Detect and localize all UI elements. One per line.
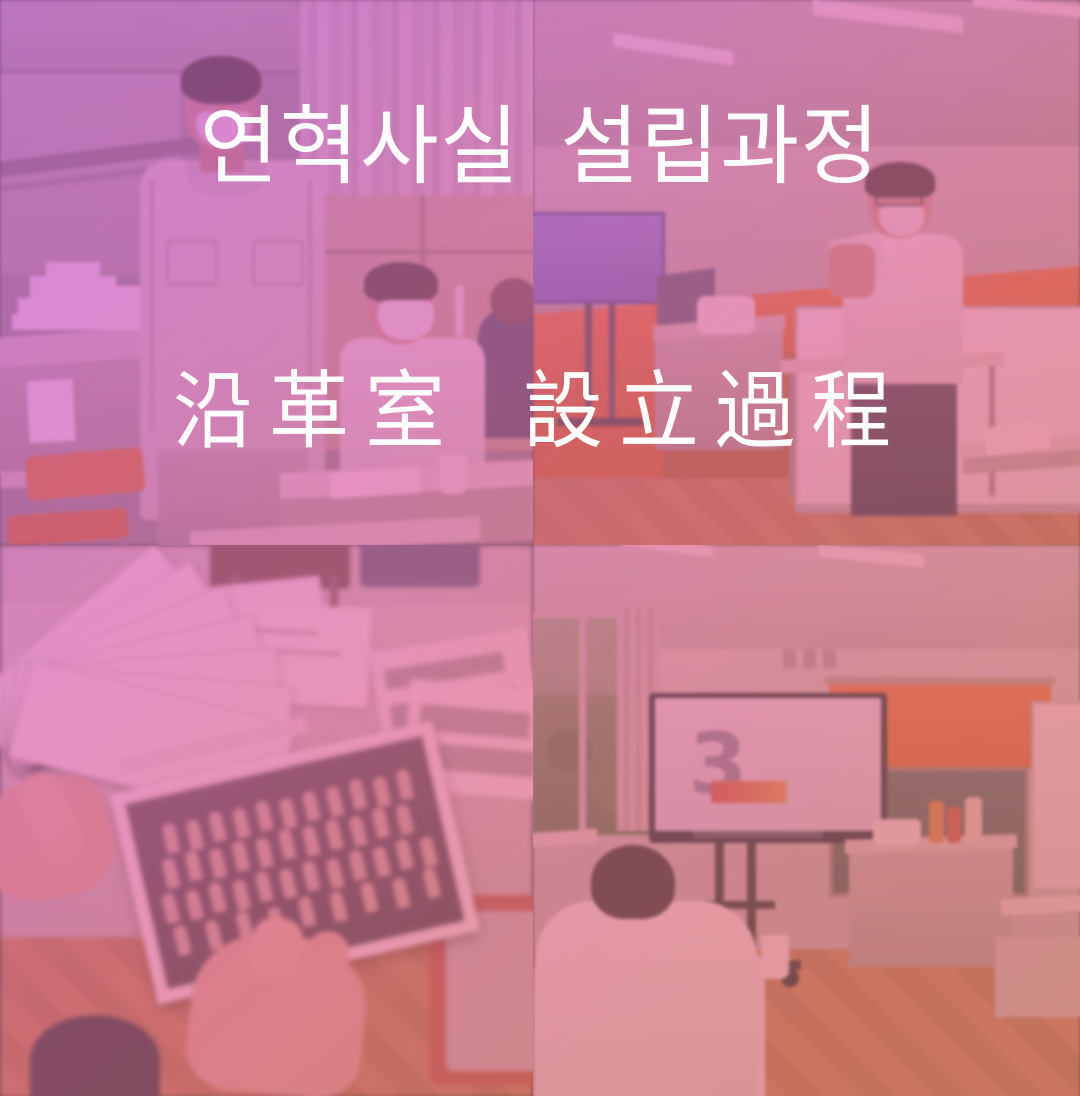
panel-classroom-briefing xyxy=(0,0,533,545)
table-leg-a xyxy=(789,366,795,496)
right-desk-top xyxy=(1001,895,1080,916)
ceiling xyxy=(533,0,1080,150)
presenter-glasses xyxy=(875,196,923,206)
side-whiteboard xyxy=(1031,701,1080,891)
wall-vent-b xyxy=(803,649,816,669)
panel-archival-photographs xyxy=(0,545,533,1096)
lectern-body xyxy=(655,330,783,450)
desk-bottle-c xyxy=(965,797,982,843)
desk-tissue-box xyxy=(873,819,921,845)
presenter-trousers xyxy=(851,376,957,516)
right-desk-body xyxy=(995,937,1080,1017)
screen-stand-post-a xyxy=(585,304,592,424)
orange-chair-seat xyxy=(7,508,129,545)
projector-screen xyxy=(533,212,665,304)
seated-person-head xyxy=(591,845,675,919)
screen-stand-base xyxy=(557,418,643,426)
window-mullion xyxy=(579,613,586,833)
forearm xyxy=(30,1015,160,1096)
slide-logo xyxy=(711,781,787,803)
jacket-pocket-left xyxy=(166,240,218,286)
lectern-items xyxy=(697,296,755,334)
board-rail xyxy=(825,677,1055,685)
third-person-head xyxy=(490,278,533,324)
jacket-seam-right xyxy=(308,180,312,430)
title-card: 3 연혁사실설립 xyxy=(0,0,1080,1096)
wall-vent-c xyxy=(823,649,836,669)
wall-vent-a xyxy=(783,649,796,669)
presenter-hands xyxy=(829,244,875,298)
cabinet-seam xyxy=(300,250,533,254)
paper-cup xyxy=(440,454,466,494)
paper-sheet xyxy=(26,379,75,443)
photo-collage: 3 xyxy=(0,0,1080,1096)
desk-bottle-a xyxy=(929,801,944,843)
panel-presentation-room xyxy=(533,0,1080,545)
cabinet-handle xyxy=(455,285,464,337)
teachers-desk-body xyxy=(849,845,1013,967)
standing-man-hair xyxy=(181,56,261,104)
orange-chair-back xyxy=(24,447,145,501)
panel-classroom-screen-session: 3 xyxy=(533,545,1080,1096)
seated-man-face-mask xyxy=(378,300,434,340)
third-person-body xyxy=(478,308,533,438)
red-chair-seat xyxy=(446,911,533,1071)
seated-person-shirt xyxy=(535,901,757,1096)
monitor-control-bar xyxy=(693,831,823,838)
presenter-hair xyxy=(865,162,935,198)
scene-classroom-screen-session: 3 xyxy=(533,545,1080,1096)
desk-bottle-b xyxy=(947,807,961,843)
paper-cup xyxy=(761,935,789,979)
scene-classroom-briefing xyxy=(0,0,533,545)
background-chair-b xyxy=(360,545,480,587)
standing-man-face-mask xyxy=(196,112,252,146)
scene-archival-photographs xyxy=(0,545,533,1096)
jacket-pocket-right xyxy=(252,240,304,286)
scene-presentation-room xyxy=(533,0,1080,545)
jacket-seam-left xyxy=(150,180,154,430)
seated-man-hair xyxy=(364,262,438,302)
screen-stand-post-b xyxy=(609,304,615,424)
